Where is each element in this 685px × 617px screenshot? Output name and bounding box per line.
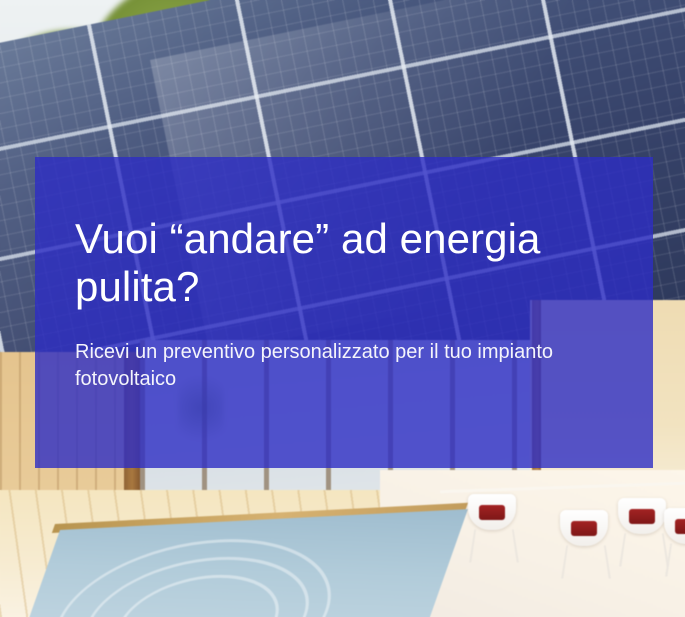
page-title: Vuoi “andare” ad energia pulita? (75, 215, 613, 311)
chair-cushion (571, 521, 597, 536)
hero-banner: Vuoi “andare” ad energia pulita? Ricevi … (0, 0, 685, 617)
chair-cushion (629, 509, 655, 524)
chair-legs (469, 529, 519, 562)
hero-overlay-card: Vuoi “andare” ad energia pulita? Ricevi … (35, 157, 653, 468)
chair-legs (561, 545, 611, 578)
chair-cushion (675, 519, 685, 534)
hero-subtitle: Ricevi un preventivo personalizzato per … (75, 339, 595, 394)
chair-cushion (479, 505, 505, 520)
chair-legs (619, 533, 669, 566)
